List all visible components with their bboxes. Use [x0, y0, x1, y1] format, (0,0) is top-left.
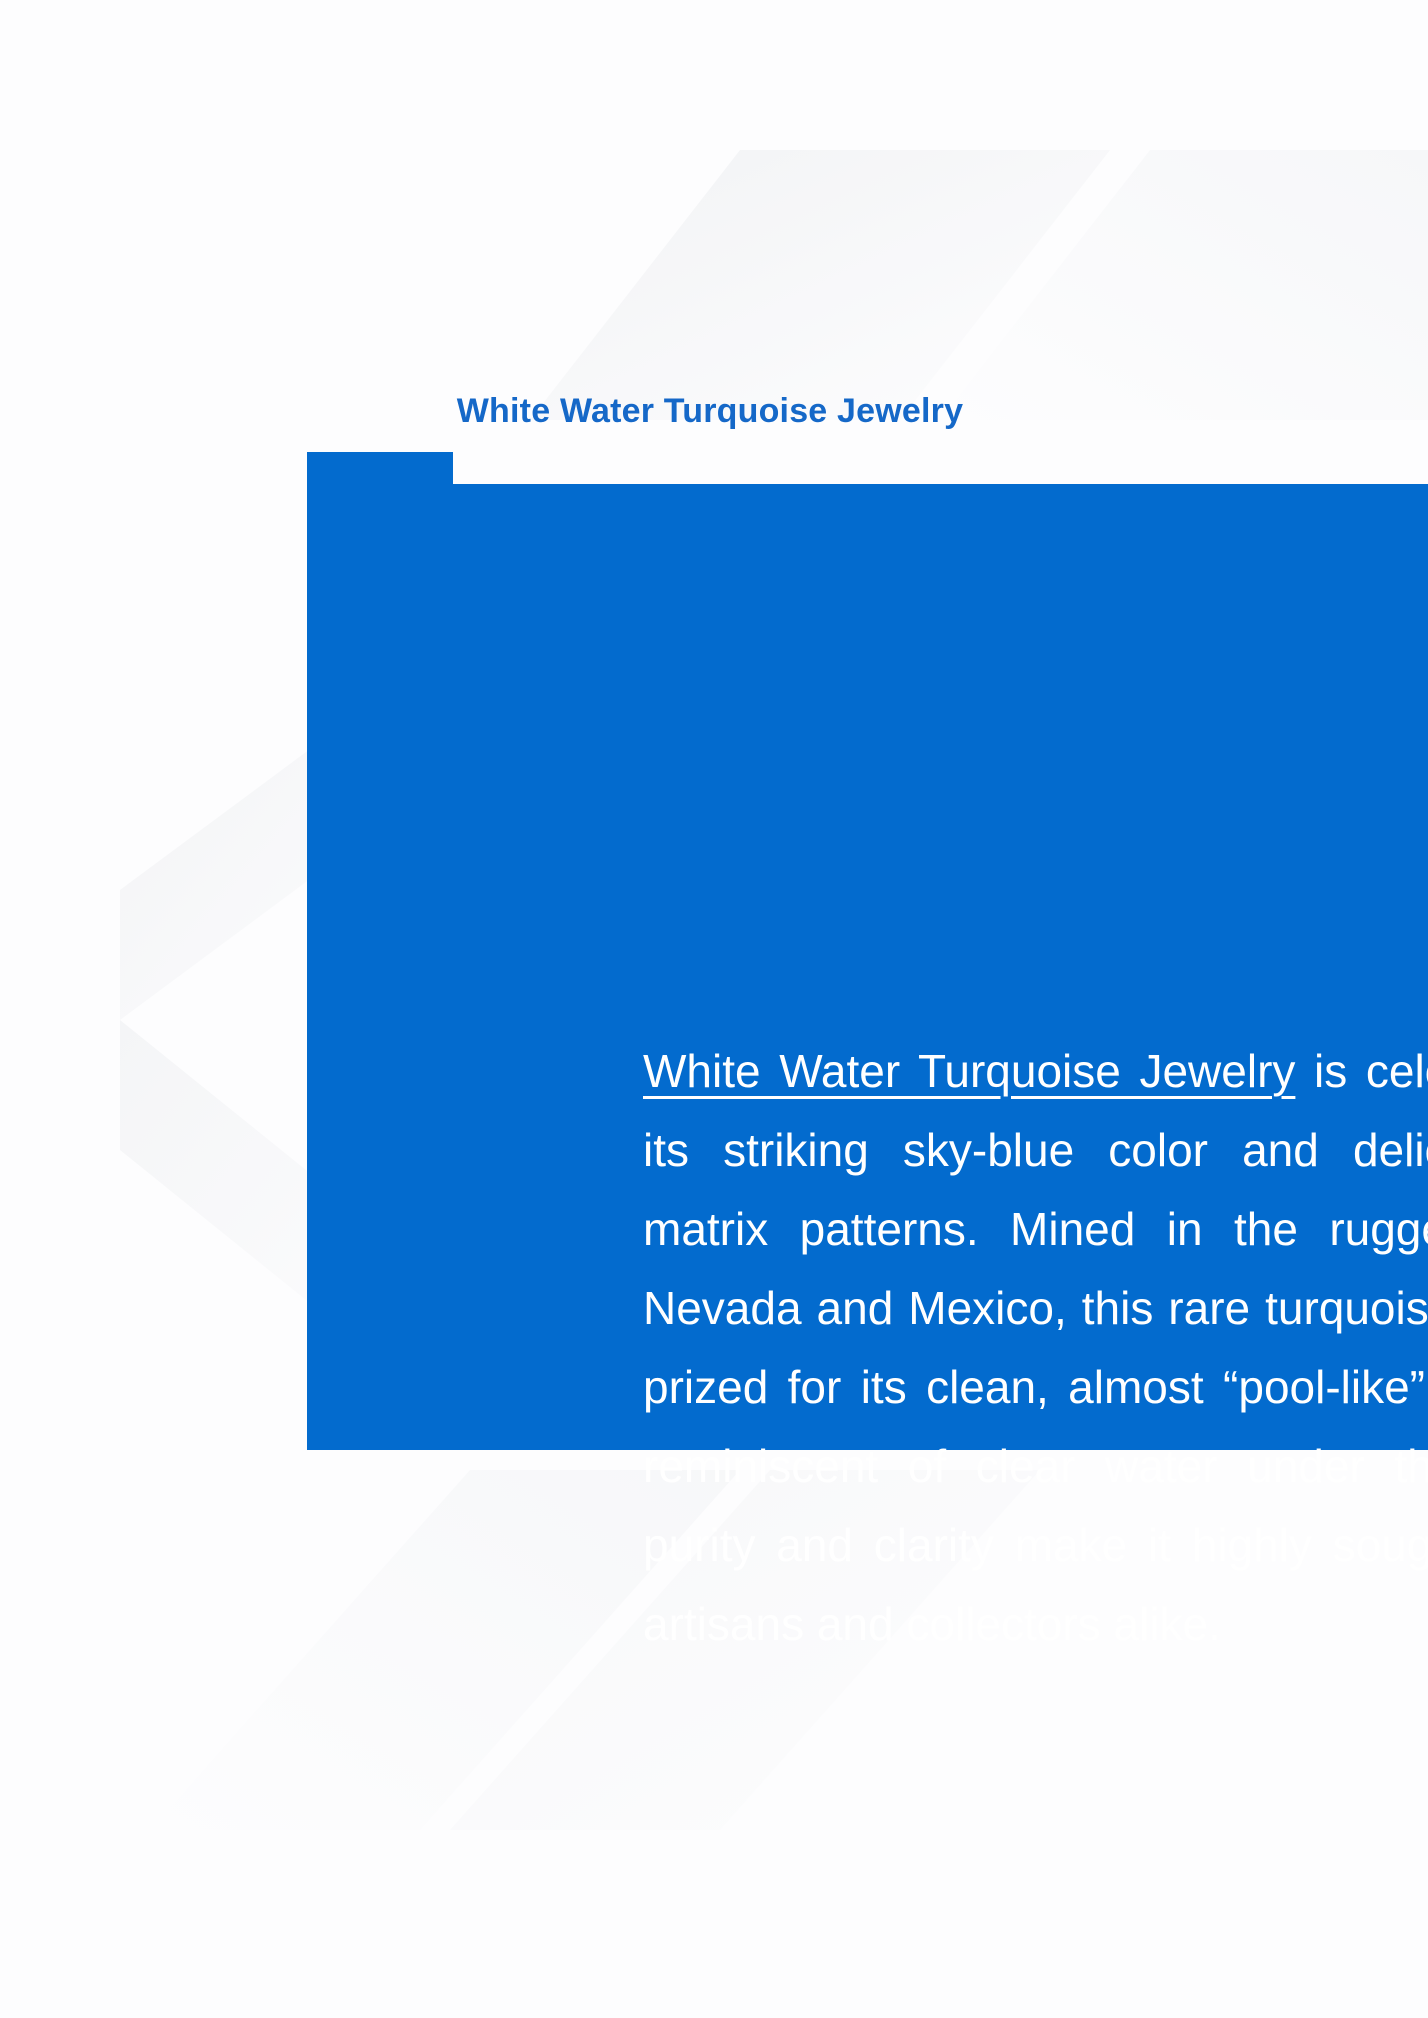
card-body-paragraph: White Water Turquoise Jewelry is celebra…: [643, 1032, 1428, 1664]
card-corner-tab: [307, 452, 453, 486]
content-card: White Water Turquoise Jewelry is celebra…: [307, 484, 1428, 1450]
card-body-text: is celebrated for its striking sky-blue …: [643, 1045, 1428, 1650]
page-title: White Water Turquoise Jewelry: [0, 392, 1420, 431]
white-water-turquoise-jewelry-link[interactable]: White Water Turquoise Jewelry: [643, 1045, 1295, 1097]
